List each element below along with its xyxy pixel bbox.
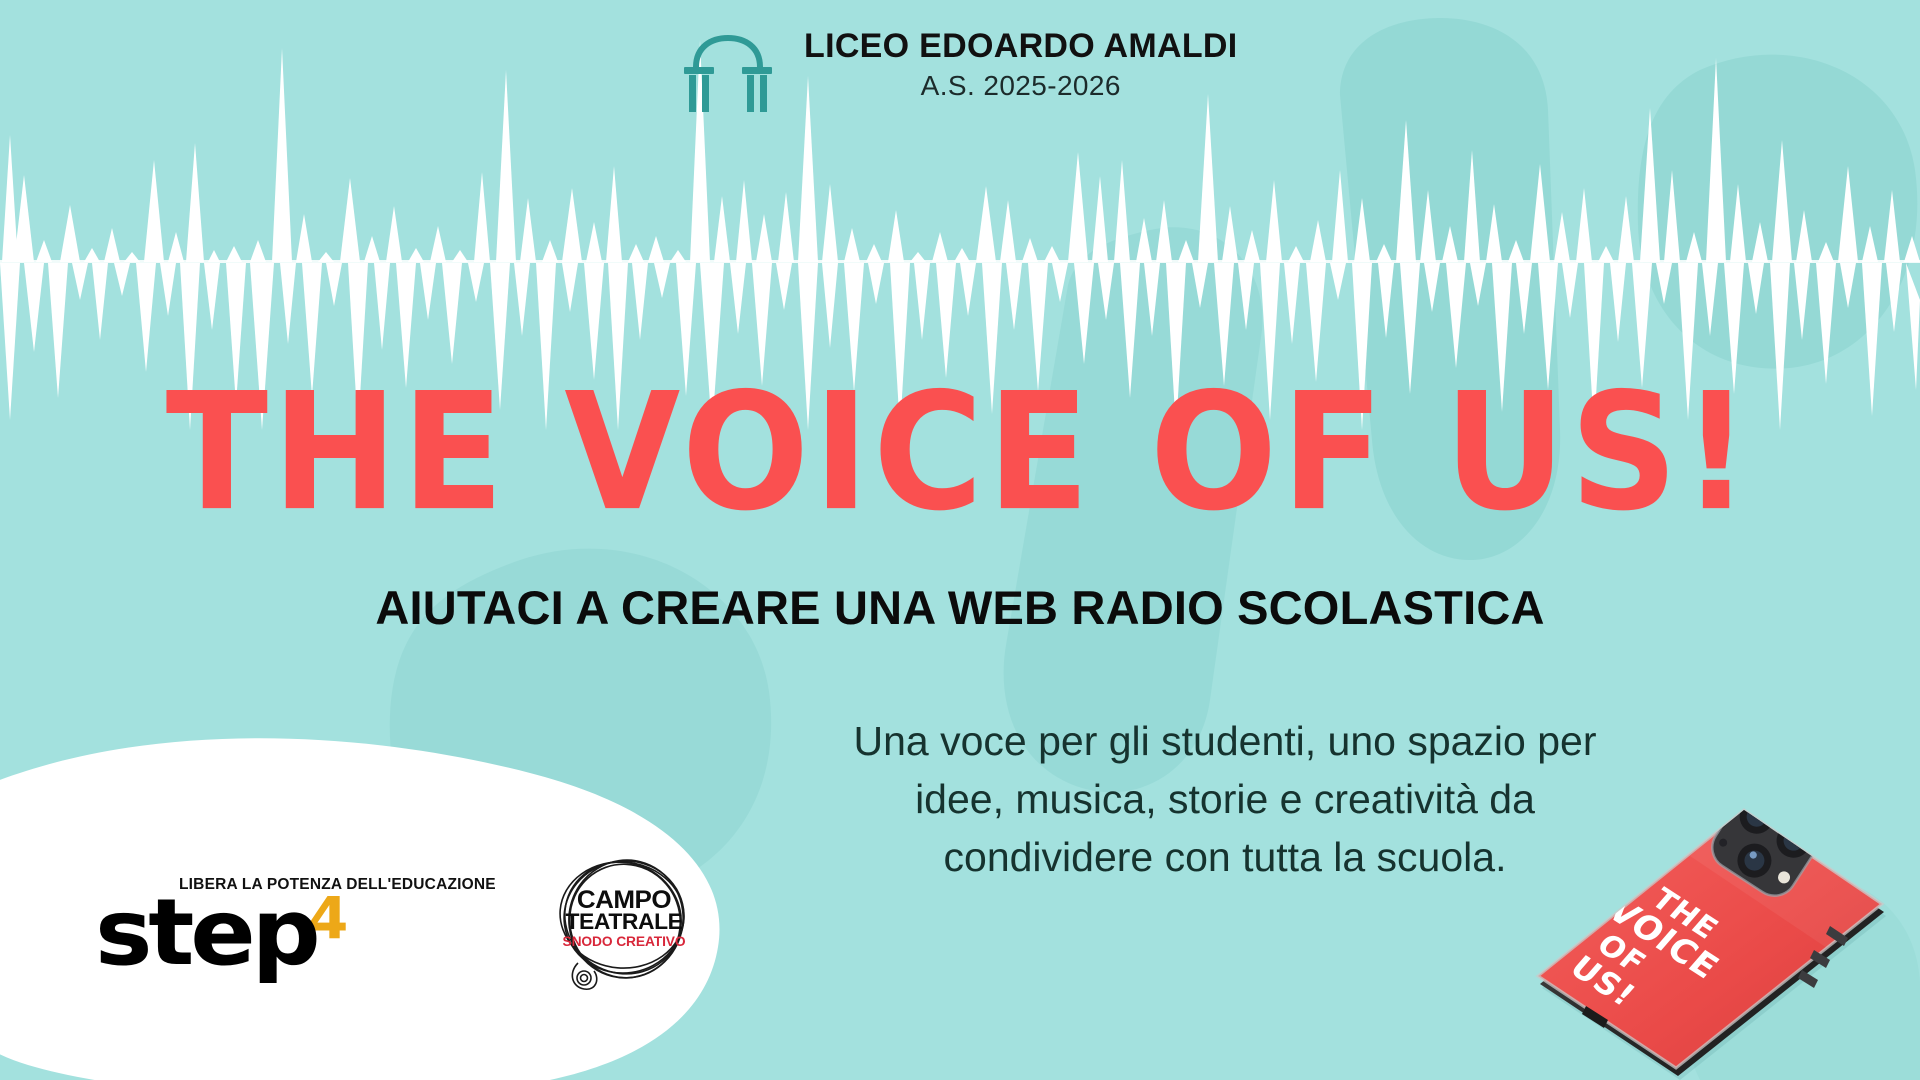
description-text: Una voce per gli studenti, uno spazio pe… [800, 712, 1650, 887]
school-brand: LICEO EDOARDO AMALDI A.S. 2025-2026 [680, 28, 1238, 117]
page-subtitle: AIUTACI A CREARE UNA WEB RADIO SCOLASTIC… [0, 580, 1920, 635]
partner-logos-panel: LIBERA LA POTENZA DELL'EDUCAZIONE step 4 [0, 735, 790, 1080]
partner-logo-campo-teatrale: CAMPO TEATRALE SNODO CREATIVO [548, 847, 700, 999]
campo-line-3: SNODO CREATIVO [546, 936, 701, 949]
school-year: A.S. 2025-2026 [921, 70, 1121, 102]
partner-logo-step4: LIBERA LA POTENZA DELL'EDUCAZIONE step 4 [95, 876, 496, 970]
description-line-2: idee, musica, storie e creatività da [800, 770, 1650, 828]
step4-word: step [95, 895, 317, 970]
step4-wordmark: step 4 [95, 895, 348, 970]
partner-logo-row: LIBERA LA POTENZA DELL'EDUCAZIONE step 4 [95, 847, 700, 999]
arch-portico-icon [680, 34, 776, 117]
poster-canvas: LICEO EDOARDO AMALDI A.S. 2025-2026 THE … [0, 0, 1920, 1080]
description-line-1: Una voce per gli studenti, uno spazio pe… [800, 712, 1650, 770]
brand-text: LICEO EDOARDO AMALDI A.S. 2025-2026 [804, 28, 1238, 102]
campo-text-block: CAMPO TEATRALE SNODO CREATIVO [548, 889, 700, 948]
school-name: LICEO EDOARDO AMALDI [804, 28, 1238, 64]
page-title: THE VOICE OF US! [0, 372, 1920, 534]
description-line-3: condividere con tutta la scuola. [800, 828, 1650, 886]
campo-line-2: TEATRALE [545, 912, 703, 932]
phone-mockup: THE VOICE OF US! [1530, 800, 1890, 1080]
